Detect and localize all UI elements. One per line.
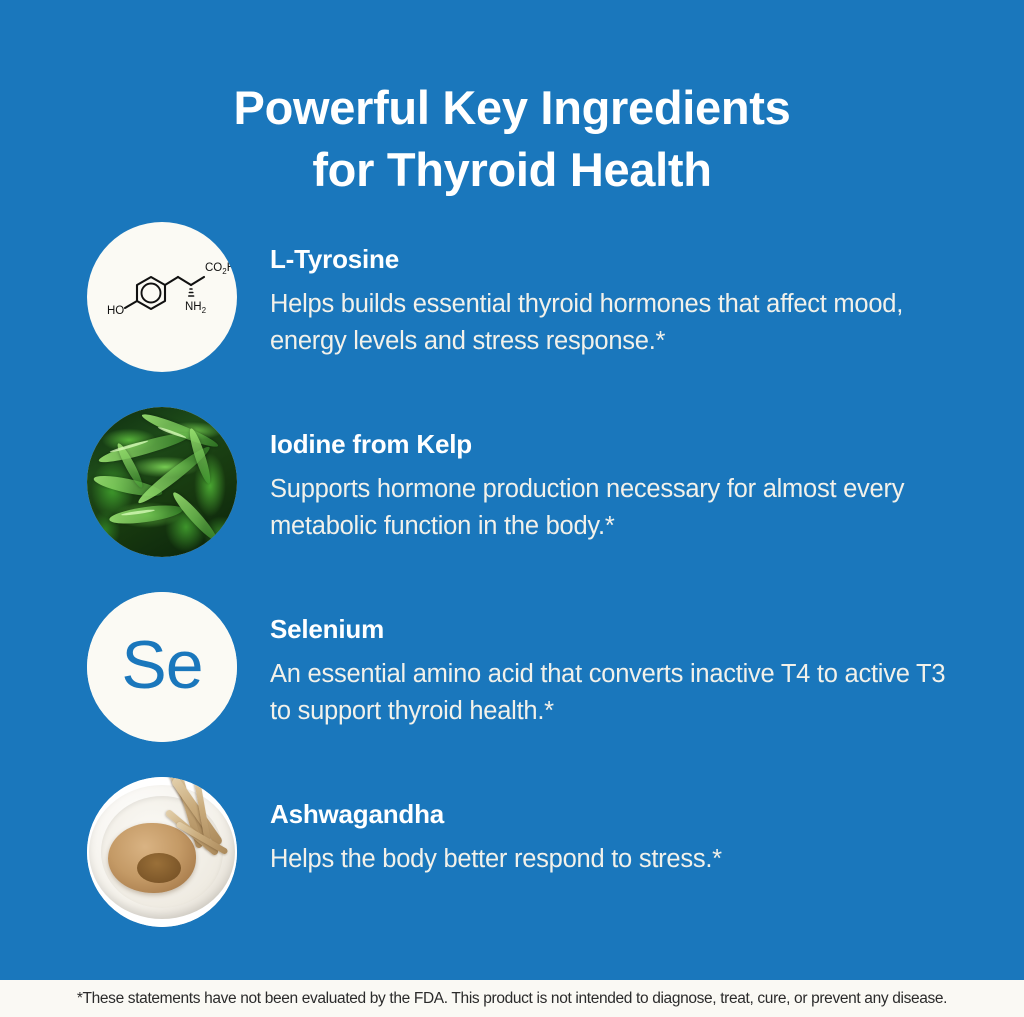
- chem-label-hydroxyl: HO: [107, 305, 124, 317]
- page-title: Powerful Key Ingredients for Thyroid Hea…: [0, 77, 1024, 201]
- infographic-page: Powerful Key Ingredients for Thyroid Hea…: [0, 0, 1024, 1017]
- kelp-frond: [170, 489, 221, 544]
- fda-disclaimer-text: *These statements have not been evaluate…: [77, 990, 947, 1008]
- footer-disclaimer-bar: *These statements have not been evaluate…: [0, 980, 1024, 1017]
- chemical-structure-icon: HO CO2H NH2: [87, 222, 237, 372]
- ingredient-description: Helps builds essential thyroid hormones …: [270, 286, 970, 360]
- ashwagandha-powder-mound: [137, 853, 181, 883]
- kelp-photo-icon: [87, 407, 237, 557]
- ingredient-description: Helps the body better respond to stress.…: [270, 841, 970, 878]
- ingredient-row-iodine-from-kelp: Iodine from Kelp Supports hormone produc…: [0, 407, 1024, 592]
- ingredient-text-block: L-Tyrosine Helps builds essential thyroi…: [270, 222, 1024, 360]
- selenium-symbol-label: Se: [121, 631, 202, 699]
- ingredient-name: Selenium: [270, 614, 1024, 644]
- ashwagandha-image: [87, 777, 237, 927]
- kelp-frond: [108, 502, 183, 527]
- page-title-line-2: for Thyroid Health: [0, 139, 1024, 201]
- selenium-circle: Se: [87, 592, 237, 742]
- ingredient-name: L-Tyrosine: [270, 244, 1024, 274]
- page-title-line-1: Powerful Key Ingredients: [0, 77, 1024, 139]
- ingredient-text-block: Selenium An essential amino acid that co…: [270, 592, 1024, 730]
- chem-label-carboxyl: CO2H: [205, 262, 235, 276]
- ingredient-name: Iodine from Kelp: [270, 429, 1024, 459]
- ingredient-row-ashwagandha: Ashwagandha Helps the body better respon…: [0, 777, 1024, 947]
- ingredient-text-block: Iodine from Kelp Supports hormone produc…: [270, 407, 1024, 545]
- selenium-symbol-icon: Se: [87, 592, 237, 742]
- ingredient-description: Supports hormone production necessary fo…: [270, 471, 970, 545]
- ingredient-description: An essential amino acid that converts in…: [270, 656, 970, 730]
- chem-label-amine: NH2: [185, 301, 207, 315]
- ingredient-list: HO CO2H NH2 L-Tyrosine Helps builds esse…: [0, 222, 1024, 947]
- ashwagandha-photo-icon: [87, 777, 237, 927]
- kelp-image: [87, 407, 237, 557]
- ingredient-name: Ashwagandha: [270, 799, 1024, 829]
- ingredient-row-selenium: Se Selenium An essential amino acid that…: [0, 592, 1024, 777]
- ingredient-row-l-tyrosine: HO CO2H NH2 L-Tyrosine Helps builds esse…: [0, 222, 1024, 407]
- ingredient-text-block: Ashwagandha Helps the body better respon…: [270, 777, 1024, 878]
